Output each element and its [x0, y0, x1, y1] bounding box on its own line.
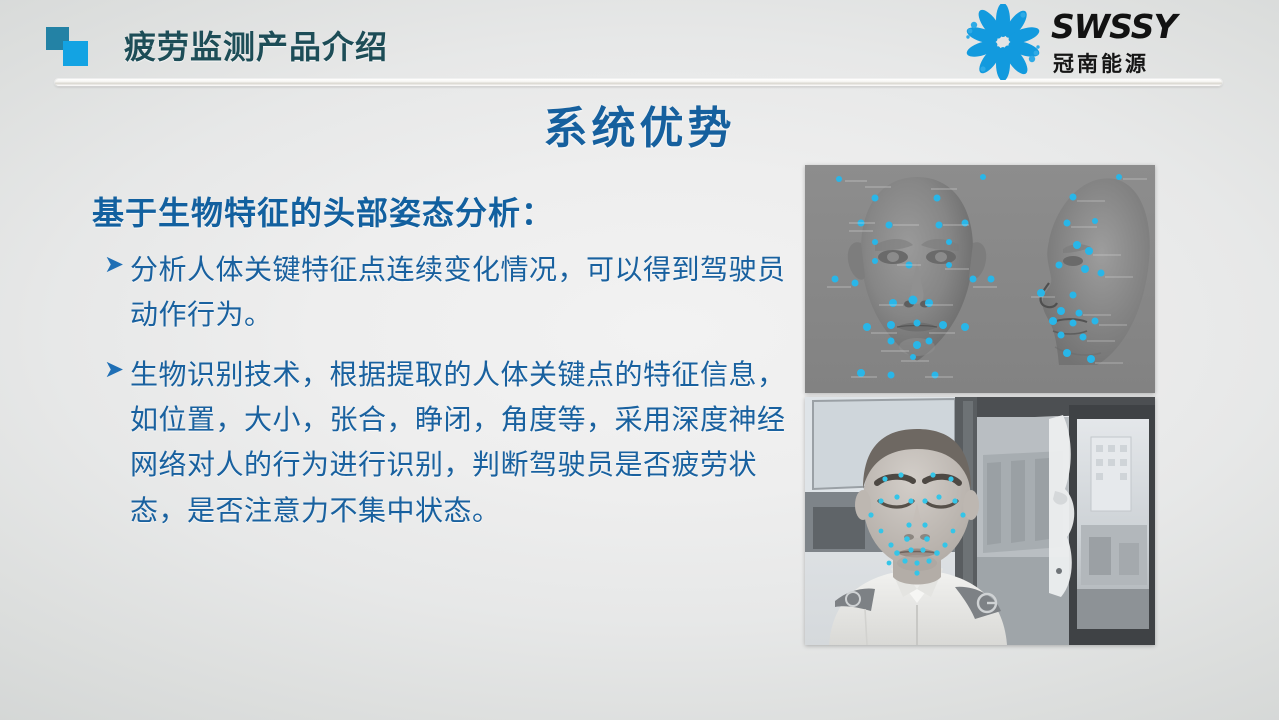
face-mesh-image: [805, 165, 1155, 393]
driver-cab-image: [805, 397, 1155, 645]
bullet-arrow-icon: ➤: [104, 253, 130, 277]
slide-header: 疲劳监测产品介绍: [0, 0, 1279, 92]
slide-body: 基于生物特征的头部姿态分析： ➤ 分析人体关键特征点连续变化情况，可以得到驾驶员…: [92, 193, 792, 533]
list-item-text: 生物识别技术，根据提取的人体关键点的特征信息，如位置，大小，张合，睁闭，角度等，…: [130, 352, 792, 533]
slide-title: 系统优势: [0, 92, 1279, 156]
logo-brand-cn: 冠南能源: [1053, 48, 1149, 78]
header-divider: [55, 79, 1222, 86]
decor-square-light: [63, 41, 88, 66]
list-item-text: 分析人体关键特征点连续变化情况，可以得到驾驶员动作行为。: [130, 247, 792, 338]
list-item: ➤ 分析人体关键特征点连续变化情况，可以得到驾驶员动作行为。: [92, 247, 792, 338]
logo-brand-text: SWSSY: [1051, 7, 1176, 46]
company-logo: SWSSY 冠南能源: [963, 4, 1223, 80]
presentation-slide: 疲劳监测产品介绍: [0, 0, 1279, 720]
lead-heading: 基于生物特征的头部姿态分析：: [92, 193, 792, 233]
bullet-arrow-icon: ➤: [104, 358, 130, 382]
list-item: ➤ 生物识别技术，根据提取的人体关键点的特征信息，如位置，大小，张合，睁闭，角度…: [92, 352, 792, 533]
logo-flower-icon: [963, 4, 1043, 80]
header-title: 疲劳监测产品介绍: [124, 22, 388, 68]
